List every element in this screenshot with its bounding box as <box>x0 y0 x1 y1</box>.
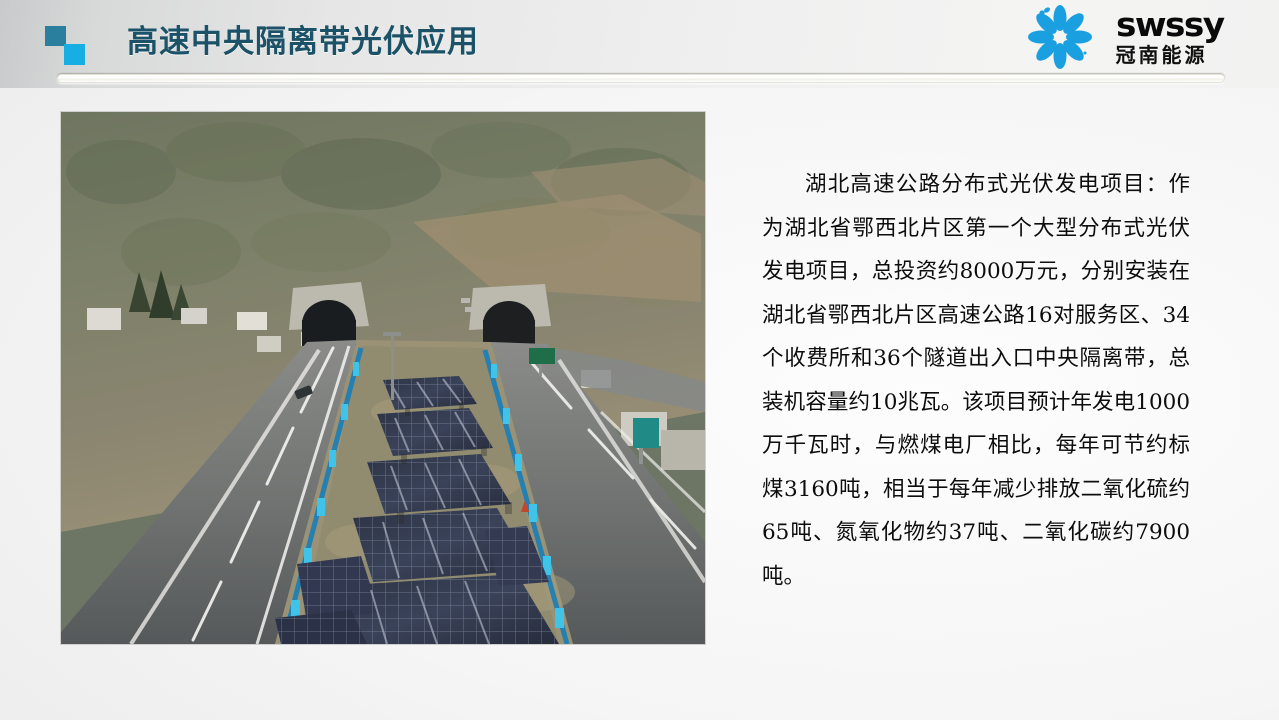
logo-chinese-name: 冠南能源 <box>1116 46 1219 66</box>
header-divider <box>57 74 1225 83</box>
logo-latin-name: swssy <box>1116 8 1224 41</box>
highway-solar-photo <box>61 112 705 644</box>
photo-illustration <box>61 112 705 644</box>
page-title: 高速中央隔离带光伏应用 <box>127 20 479 64</box>
body-paragraph: 湖北高速公路分布式光伏发电项目：作为湖北省鄂西北片区第一个大型分布式光伏发电项目… <box>762 163 1190 598</box>
decorative-squares-icon <box>45 26 91 66</box>
presentation-slide: 高速中央隔离带光伏应用 <box>0 0 1279 720</box>
company-logo: swssy 冠南能源 <box>1014 4 1219 70</box>
square-dark-icon <box>45 26 66 46</box>
slide-header-band: 高速中央隔离带光伏应用 <box>0 0 1279 88</box>
logo-wordmark: swssy 冠南能源 <box>1116 8 1219 66</box>
water-drop-petal-emblem-icon <box>1014 5 1106 69</box>
square-light-icon <box>64 44 85 65</box>
